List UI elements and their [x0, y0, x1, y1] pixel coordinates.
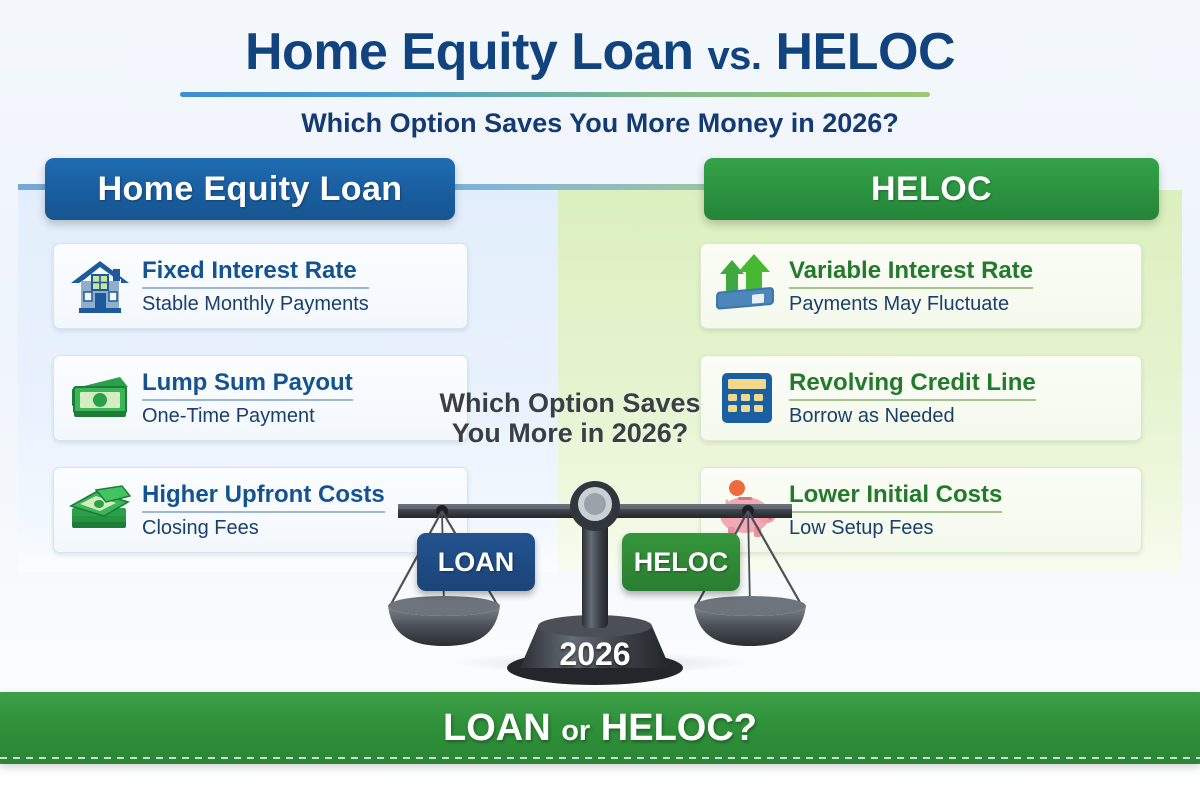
balance-scale-graphic: LOAN HELOC 2026: [370, 440, 820, 690]
page-subtitle: Which Option Saves You More Money in 202…: [0, 108, 1200, 139]
card-subtitle: Payments May Fluctuate: [789, 293, 1033, 316]
footer-banner: LOAN or HELOC?: [0, 692, 1200, 764]
card-title: Higher Upfront Costs: [142, 481, 385, 513]
scale-left-pan-label: LOAN: [417, 533, 535, 591]
title-vs: vs.: [707, 34, 761, 78]
title-main: Home Equity Loan: [245, 23, 693, 81]
card-text: Lump Sum Payout One-Time Payment: [136, 369, 353, 428]
house-icon: [64, 251, 136, 321]
card-subtitle: Low Setup Fees: [789, 517, 1002, 540]
feature-card[interactable]: Lump Sum Payout One-Time Payment: [53, 355, 468, 441]
card-title: Lower Initial Costs: [789, 481, 1002, 513]
left-panel-header-label: Home Equity Loan: [98, 170, 403, 209]
feature-card[interactable]: Revolving Credit Line Borrow as Needed: [700, 355, 1142, 441]
card-title: Fixed Interest Rate: [142, 257, 369, 289]
scale-right-pan-label: HELOC: [622, 533, 740, 591]
card-title: Variable Interest Rate: [789, 257, 1033, 289]
calculator-icon: [711, 363, 783, 433]
cash-bill-icon: [64, 363, 136, 433]
card-subtitle: One-Time Payment: [142, 405, 353, 428]
scale-year-label: 2026: [370, 636, 820, 673]
card-subtitle: Closing Fees: [142, 517, 385, 540]
cash-stack-icon: [64, 475, 136, 545]
center-question-line1: Which Option Saves: [420, 388, 720, 418]
feature-card[interactable]: Fixed Interest Rate Stable Monthly Payme…: [53, 243, 468, 329]
up-arrows-icon: [711, 251, 783, 321]
infographic-canvas: Home Equity Loan vs. HELOC Which Option …: [0, 0, 1200, 800]
page-title: Home Equity Loan vs. HELOC: [0, 22, 1200, 82]
footer-text-or: or: [561, 715, 590, 747]
left-panel-header-ribbon: Home Equity Loan: [45, 158, 455, 220]
title-underline-rule: [180, 92, 930, 97]
card-subtitle: Stable Monthly Payments: [142, 293, 369, 316]
card-text: Fixed Interest Rate Stable Monthly Payme…: [136, 257, 369, 316]
card-text: Higher Upfront Costs Closing Fees: [136, 481, 385, 540]
card-title: Lump Sum Payout: [142, 369, 353, 401]
right-panel-header-ribbon: HELOC: [704, 158, 1159, 220]
footer-text: LOAN or HELOC?: [443, 707, 757, 750]
footer-text-end: HELOC?: [601, 707, 757, 749]
card-text: Variable Interest Rate Payments May Fluc…: [783, 257, 1033, 316]
footer-dashed-line: [0, 757, 1200, 759]
card-text: Revolving Credit Line Borrow as Needed: [783, 369, 1036, 428]
card-subtitle: Borrow as Needed: [789, 405, 1036, 428]
feature-card[interactable]: Variable Interest Rate Payments May Fluc…: [700, 243, 1142, 329]
card-title: Revolving Credit Line: [789, 369, 1036, 401]
right-panel-header-label: HELOC: [871, 170, 992, 209]
footer-text-start: LOAN: [443, 707, 551, 749]
title-end: HELOC: [776, 23, 956, 81]
